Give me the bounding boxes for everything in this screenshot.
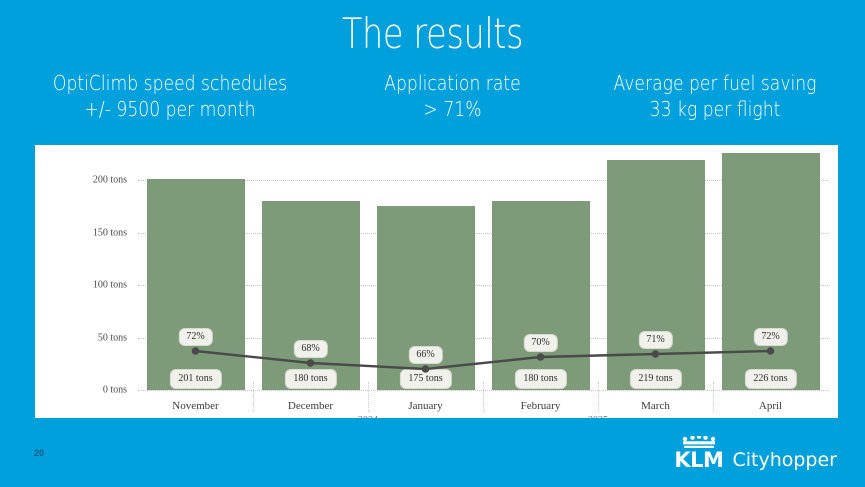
bar-value-label: 180 tons <box>514 369 566 389</box>
x-axis-label-november: November <box>138 400 253 412</box>
line-value-label: 72% <box>753 328 787 346</box>
y-axis-tick-label: 50 tons <box>35 332 127 343</box>
subtitle-fuel-saving: Average per fuel saving 33 kg per flight <box>586 71 844 122</box>
slide-canvas: The results OptiClimb speed schedules +/… <box>0 0 865 487</box>
x-axis-label-march: March <box>598 400 713 412</box>
subtitle-fuel-saving-line2: 33 kg per flight <box>586 97 844 123</box>
klm-cityhopper-logo: KLM Cityhopper <box>674 436 837 471</box>
bar-february <box>492 201 590 390</box>
chart-plot-area: 0 tons50 tons100 tons150 tons200 tons201… <box>35 145 838 418</box>
subtitle-opticlimb-line2: +/- 9500 per month <box>24 97 316 123</box>
bar-value-label: 219 tons <box>629 369 681 389</box>
klm-mark: KLM <box>674 436 723 471</box>
line-value-label: 66% <box>408 346 442 364</box>
klm-wordmark: KLM <box>674 450 723 471</box>
line-value-label: 68% <box>293 340 327 358</box>
x-axis-year-label: 2025 <box>568 415 628 418</box>
y-axis-tick-label: 100 tons <box>35 280 127 291</box>
subtitle-application-rate-line2: > 71% <box>356 97 550 123</box>
line-value-label: 72% <box>178 328 212 346</box>
subtitle-fuel-saving-line1: Average per fuel saving <box>586 71 844 97</box>
bar-value-label: 180 tons <box>284 369 336 389</box>
bar-value-label: 226 tons <box>744 369 796 389</box>
x-axis-label-february: February <box>483 400 598 412</box>
bar-march <box>607 160 705 390</box>
cityhopper-wordmark: Cityhopper <box>732 451 837 471</box>
subtitle-row: OptiClimb speed schedules +/- 9500 per m… <box>0 71 865 122</box>
x-axis-year-label: 2024 <box>338 415 398 418</box>
subtitle-application-rate-line1: Application rate <box>356 71 550 97</box>
bar-april <box>722 153 820 390</box>
bar-december <box>262 201 360 390</box>
line-value-label: 70% <box>523 334 557 352</box>
x-axis-label-april: April <box>713 400 828 412</box>
bar-november <box>147 179 245 390</box>
x-axis-label-january: January <box>368 400 483 412</box>
y-axis-tick-label: 200 tons <box>35 175 127 186</box>
y-axis-tick-label: 150 tons <box>35 227 127 238</box>
bar-value-label: 201 tons <box>169 369 221 389</box>
page-title: The results <box>87 12 779 56</box>
y-axis-tick-label: 0 tons <box>35 385 127 396</box>
page-number: 20 <box>34 448 44 458</box>
subtitle-opticlimb: OptiClimb speed schedules +/- 9500 per m… <box>24 71 316 122</box>
subtitle-application-rate: Application rate > 71% <box>356 71 550 122</box>
chart-panel: 0 tons50 tons100 tons150 tons200 tons201… <box>35 145 838 418</box>
x-axis-label-december: December <box>253 400 368 412</box>
bar-value-label: 175 tons <box>399 369 451 389</box>
subtitle-opticlimb-line1: OptiClimb speed schedules <box>24 71 316 97</box>
line-value-label: 71% <box>638 331 672 349</box>
